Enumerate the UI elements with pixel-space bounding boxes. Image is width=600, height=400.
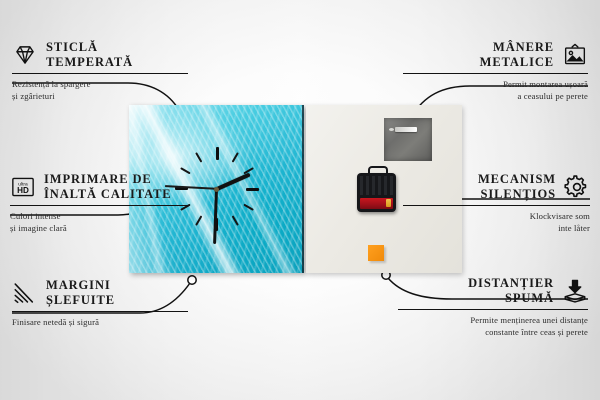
gear-icon <box>564 174 590 200</box>
feature-rule <box>403 73 588 75</box>
feature-title-line2: METALICE <box>480 55 554 69</box>
feature-rule <box>403 205 590 207</box>
feature-subtitle: Rezistență la spargere și zgârieturi <box>12 78 197 102</box>
infographic-canvas: STICLĂ TEMPERATĂ Rezistență la spargere … <box>0 0 600 400</box>
feature-rule <box>12 73 188 75</box>
feature-sub-line2: a ceasului pe perete <box>517 91 588 101</box>
feature-title-line1: MÂNERE <box>493 40 554 54</box>
feature-sub-line2: și imagine clară <box>10 223 67 233</box>
diamond-icon <box>12 42 38 68</box>
ultra-hd-icon: ultra HD <box>10 174 36 200</box>
feature-sub-line1: Rezistență la spargere <box>12 79 91 89</box>
feature-title-line2: ȘLEFUITE <box>46 293 115 307</box>
feature-imprimare-inalta-calitate: ultra HD IMPRIMARE DE ÎNALTĂ CALITATE Cu… <box>10 172 195 235</box>
feature-sub-line1: Klockvisare som <box>530 211 590 221</box>
battery <box>360 198 393 209</box>
feature-sub-line2: și zgârieturi <box>12 91 55 101</box>
feature-distantier-spuma: DISTANȚIER SPUMĂ Permite menținerea unei… <box>398 276 588 339</box>
feature-title-line1: MECANISM <box>478 172 556 186</box>
feature-sticla-temperata: STICLĂ TEMPERATĂ Rezistență la spargere … <box>12 40 197 103</box>
metal-hanger-plate <box>384 118 432 161</box>
feature-title-line1: MARGINI <box>46 278 111 292</box>
feature-sub-line1: Permite menținerea unei distanțe <box>470 315 588 325</box>
feature-title-line2: SPUMĂ <box>505 291 554 305</box>
feature-subtitle: Culori intense și imagine clară <box>10 210 195 234</box>
feature-mecanism-silentios: MECANISM SILENȚIOS Klockvisare som inte … <box>403 172 590 235</box>
hanger-keyhole-slot <box>395 127 417 132</box>
feature-sub-line2: constante între ceas și perete <box>485 327 588 337</box>
foam-spacer-pad <box>368 245 384 261</box>
feature-rule <box>10 205 188 207</box>
feature-sub-line1: Finisare netedă și sigură <box>12 317 99 327</box>
feature-title-line2: ÎNALTĂ CALITATE <box>44 187 172 201</box>
feature-title-line1: DISTANȚIER <box>468 276 554 290</box>
foam-spacer-arrow-icon <box>562 278 588 304</box>
diagonal-lines-icon <box>12 280 38 306</box>
feature-subtitle: Finisare netedă și sigură <box>12 316 197 328</box>
feature-title-line1: STICLĂ <box>46 40 98 54</box>
feature-title-line2: SILENȚIOS <box>481 187 557 201</box>
clock-mechanism <box>357 173 396 212</box>
feature-title-line2: TEMPERATĂ <box>46 55 133 69</box>
feature-sub-line2: inte låter <box>558 223 590 233</box>
feature-subtitle: Klockvisare som inte låter <box>403 210 590 234</box>
feature-rule <box>12 311 188 313</box>
mechanism-body <box>360 176 393 195</box>
feature-subtitle: Permite menținerea unei distanțe constan… <box>398 314 588 338</box>
feature-rule <box>398 309 588 311</box>
feature-sub-line1: Culori intense <box>10 211 61 221</box>
feature-margini-slefuite: MARGINI ȘLEFUITE Finisare netedă și sigu… <box>12 278 197 328</box>
svg-text:HD: HD <box>17 186 29 195</box>
feature-sub-line1: Permit montarea ușoară <box>503 79 588 89</box>
hanging-frame-icon <box>562 42 588 68</box>
feature-subtitle: Permit montarea ușoară a ceasului pe per… <box>403 78 588 102</box>
feature-manere-metalice: MÂNERE METALICE Permit montarea ușoară a… <box>403 40 588 103</box>
feature-title-line1: IMPRIMARE DE <box>44 172 152 186</box>
